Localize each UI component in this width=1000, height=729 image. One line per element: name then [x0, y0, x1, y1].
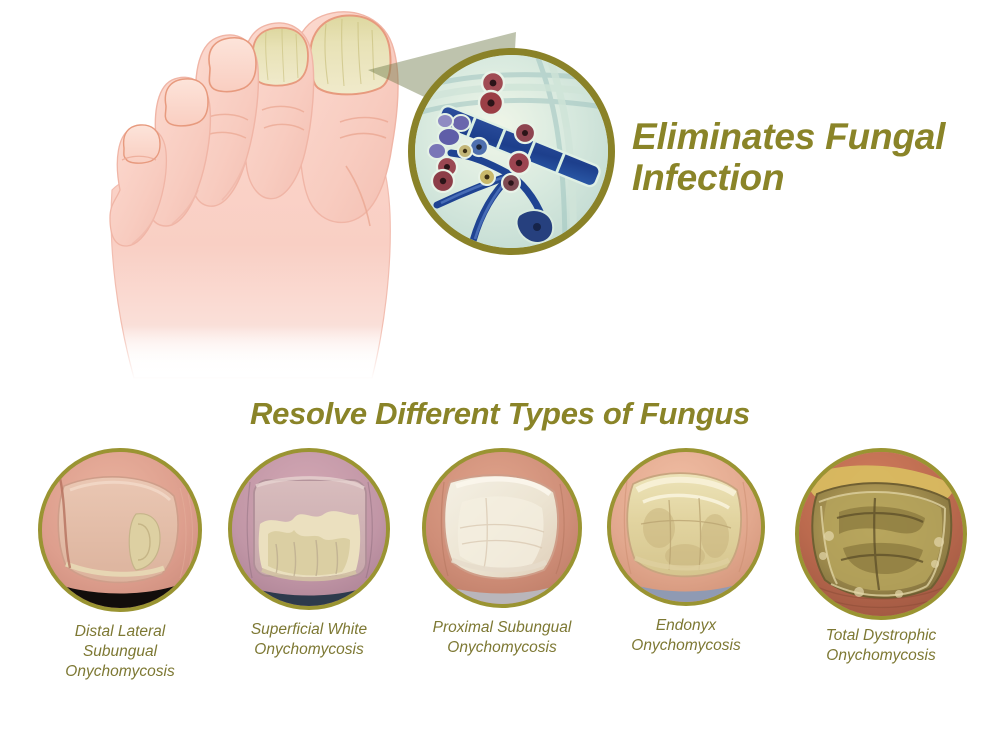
nail-photo-total-dystrophic: [795, 448, 967, 620]
nail-photo-superficial-white: [228, 448, 390, 610]
gallery-caption-superficial-white: Superficial White Onychomycosis: [204, 620, 414, 660]
section-title: Resolve Different Types of Fungus: [0, 396, 1000, 432]
gallery-caption-distal-lateral-subungual: Distal Lateral Subungual Onychomycosis: [15, 622, 225, 681]
fungus-microscope-circle: [408, 48, 615, 255]
gallery-item-proximal-subungual[interactable]: Proximal Subungual Onychomycosis: [422, 448, 582, 608]
poster-canvas: Eliminates Fungal Infection Resolve Diff…: [0, 0, 1000, 729]
headline-line-1: Eliminates Fungal: [632, 116, 992, 157]
gallery-item-total-dystrophic[interactable]: Total Dystrophic Onychomycosis: [795, 448, 967, 620]
headline-line-2: Infection: [632, 157, 992, 198]
gallery-caption-proximal-subungual: Proximal Subungual Onychomycosis: [397, 618, 607, 658]
hero-headline: Eliminates Fungal Infection: [632, 116, 992, 199]
nail-photo-distal-lateral-subungual: [38, 448, 202, 612]
gallery-item-superficial-white[interactable]: Superficial White Onychomycosis: [228, 448, 390, 610]
gallery-caption-endonyx: Endonyx Onychomycosis: [581, 616, 791, 656]
fungus-types-gallery: Distal Lateral Subungual Onychomycosis: [0, 448, 1000, 708]
gallery-item-endonyx[interactable]: Endonyx Onychomycosis: [607, 448, 765, 606]
nail-photo-endonyx: [607, 448, 765, 606]
foot-illustration: [0, 0, 420, 380]
gallery-caption-total-dystrophic: Total Dystrophic Onychomycosis: [776, 626, 986, 666]
gallery-item-distal-lateral-subungual[interactable]: Distal Lateral Subungual Onychomycosis: [38, 448, 202, 612]
nail-photo-proximal-subungual: [422, 448, 582, 608]
